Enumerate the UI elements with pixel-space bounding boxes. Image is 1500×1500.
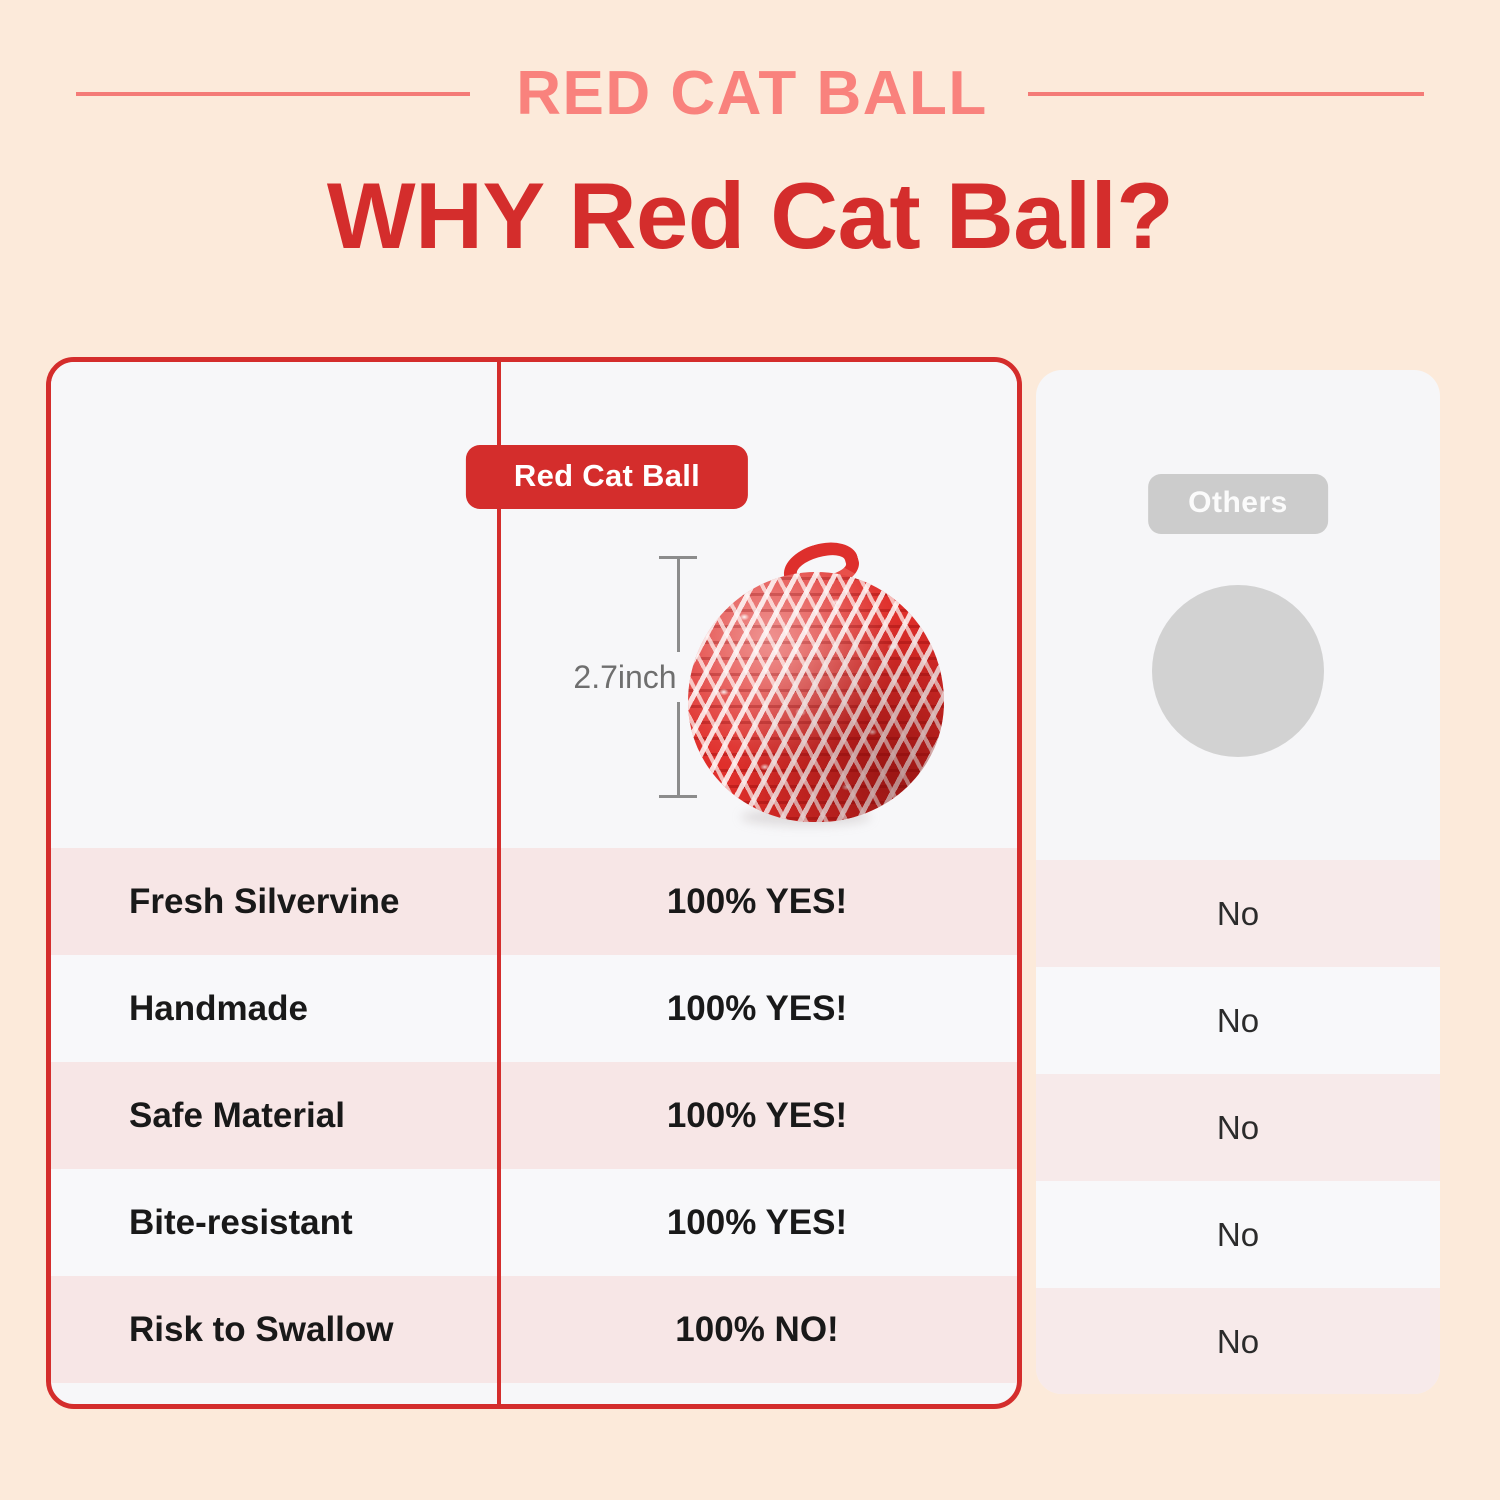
table-row: Bite-resistant 100% YES!: [51, 1169, 1017, 1276]
others-cell: No: [1036, 860, 1440, 967]
feature-label: Safe Material: [51, 1096, 497, 1136]
product-value: 100% YES!: [497, 1203, 1017, 1243]
others-product-placeholder-icon: [1152, 585, 1324, 757]
product-value: 100% YES!: [497, 989, 1017, 1029]
eyebrow-rule-right: [1028, 92, 1424, 96]
product-comparison-card: Red Cat Ball 2.7inch Fresh Silvervine 10…: [46, 357, 1022, 1409]
yarn-ball-shading: [688, 572, 944, 822]
feature-label: Bite-resistant: [51, 1203, 497, 1243]
product-value: 100% YES!: [497, 1096, 1017, 1136]
others-value-list: No No No No No: [1036, 860, 1440, 1394]
product-value: 100% NO!: [497, 1310, 1017, 1350]
table-row: Fresh Silvervine 100% YES!: [51, 848, 1017, 955]
others-cell: No: [1036, 1074, 1440, 1181]
feature-label: Fresh Silvervine: [51, 882, 497, 922]
column-divider: [497, 362, 501, 1404]
feature-label: Risk to Swallow: [51, 1310, 497, 1350]
others-column-panel: Others No No No No No: [1036, 370, 1440, 1394]
comparison-rows: Fresh Silvervine 100% YES! Handmade 100%…: [51, 848, 1017, 1383]
others-cell: No: [1036, 1181, 1440, 1288]
eyebrow-row: RED CAT BALL: [0, 55, 1500, 133]
feature-label: Handmade: [51, 989, 497, 1029]
others-badge: Others: [1148, 474, 1328, 534]
yarn-ball-icon: [688, 572, 944, 822]
product-image: [671, 542, 961, 832]
others-cell: No: [1036, 967, 1440, 1074]
product-value: 100% YES!: [497, 882, 1017, 922]
eyebrow-rule-left: [76, 92, 470, 96]
table-row: Safe Material 100% YES!: [51, 1062, 1017, 1169]
table-row: Handmade 100% YES!: [51, 955, 1017, 1062]
product-column-header: Red Cat Ball 2.7inch: [51, 362, 1017, 848]
table-row: Risk to Swallow 100% NO!: [51, 1276, 1017, 1383]
product-badge: Red Cat Ball: [466, 445, 748, 509]
eyebrow-text: RED CAT BALL: [516, 63, 987, 125]
others-column-header: Others: [1036, 370, 1440, 860]
page-title: WHY Red Cat Ball?: [0, 165, 1500, 267]
others-cell: No: [1036, 1288, 1440, 1394]
page-header: RED CAT BALL WHY Red Cat Ball?: [0, 0, 1500, 330]
